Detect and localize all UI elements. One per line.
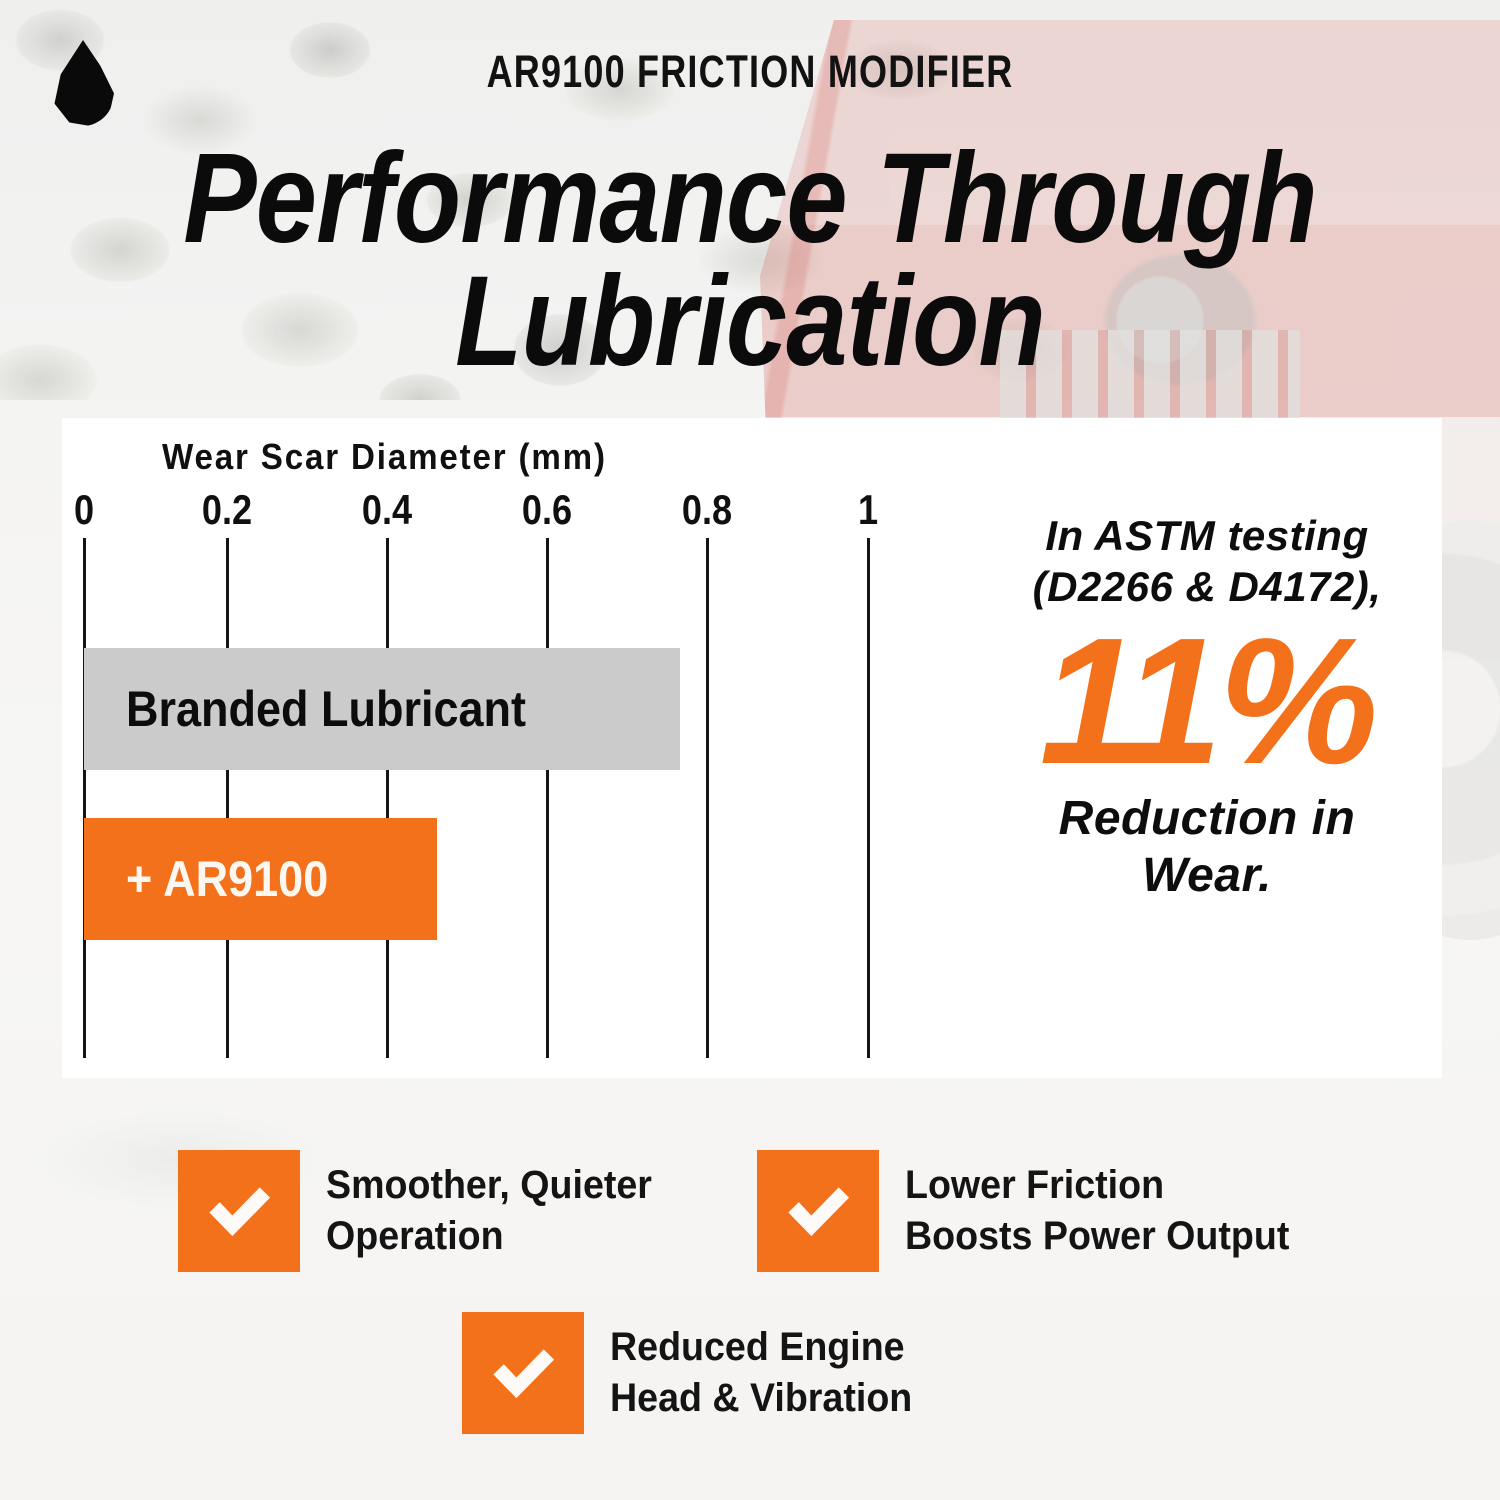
benefit-text: Smoother, Quieter Operation <box>326 1160 652 1262</box>
bar-label-branded-lubricant: Branded Lubricant <box>126 680 526 738</box>
benefit-line-1: Smoother, Quieter <box>326 1160 652 1211</box>
check-icon <box>757 1150 879 1272</box>
benefit-line-2: Boosts Power Output <box>905 1211 1289 1262</box>
benefit-item-smoother-quieter-operation: Smoother, Quieter Operation <box>178 1150 673 1272</box>
benefit-text: Reduced Engine Head & Vibration <box>610 1322 912 1424</box>
x-tick-label-4: 0.8 <box>682 486 732 534</box>
gridline-0-6 <box>546 538 549 1058</box>
benefit-item-reduced-engine-heat-vibration: Reduced Engine Head & Vibration <box>462 1312 932 1434</box>
x-tick-label-3: 0.6 <box>522 486 572 534</box>
bar-branded-lubricant: Branded Lubricant <box>84 648 680 770</box>
headline-line-2: Lubrication <box>105 258 1395 386</box>
product-eyebrow: AR9100 FRICTION MODIFIER <box>150 46 1350 98</box>
x-tick-label-1: 0.2 <box>202 486 252 534</box>
gridline-1 <box>867 538 870 1058</box>
astm-outro-line-2: Wear. <box>992 848 1422 905</box>
reduction-percentage: 11% <box>992 616 1422 789</box>
check-icon <box>178 1150 300 1272</box>
gridline-0-8 <box>706 538 709 1058</box>
bar-ar9100: + AR9100 <box>84 818 437 940</box>
benefit-line-1: Reduced Engine <box>610 1322 912 1373</box>
gridline-0-2 <box>226 538 229 1058</box>
astm-stat-block: In ASTM testing (D2266 & D4172), 11% Red… <box>992 510 1422 905</box>
benefit-line-2: Operation <box>326 1211 652 1262</box>
headline-line-1: Performance Through <box>105 135 1395 263</box>
astm-intro-line-1: In ASTM testing <box>992 510 1422 561</box>
header: AR9100 FRICTION MODIFIER Performance Thr… <box>0 0 1500 400</box>
gridline-0 <box>83 538 86 1058</box>
check-icon <box>462 1312 584 1434</box>
benefit-line-2: Head & Vibration <box>610 1373 912 1424</box>
benefit-item-lower-friction-boosts-power: Lower Friction Boosts Power Output <box>757 1150 1314 1272</box>
benefit-line-1: Lower Friction <box>905 1160 1289 1211</box>
chart-panel: Wear Scar Diameter (mm) 0 0.2 0.4 0.6 0.… <box>62 418 1442 1078</box>
x-tick-label-5: 1 <box>858 486 878 534</box>
benefit-text: Lower Friction Boosts Power Output <box>905 1160 1289 1262</box>
x-tick-label-2: 0.4 <box>362 486 412 534</box>
x-tick-label-0: 0 <box>74 486 94 534</box>
bar-label-ar9100: + AR9100 <box>126 850 328 908</box>
oil-drop-icon <box>52 40 114 126</box>
gridline-0-4 <box>386 538 389 1058</box>
